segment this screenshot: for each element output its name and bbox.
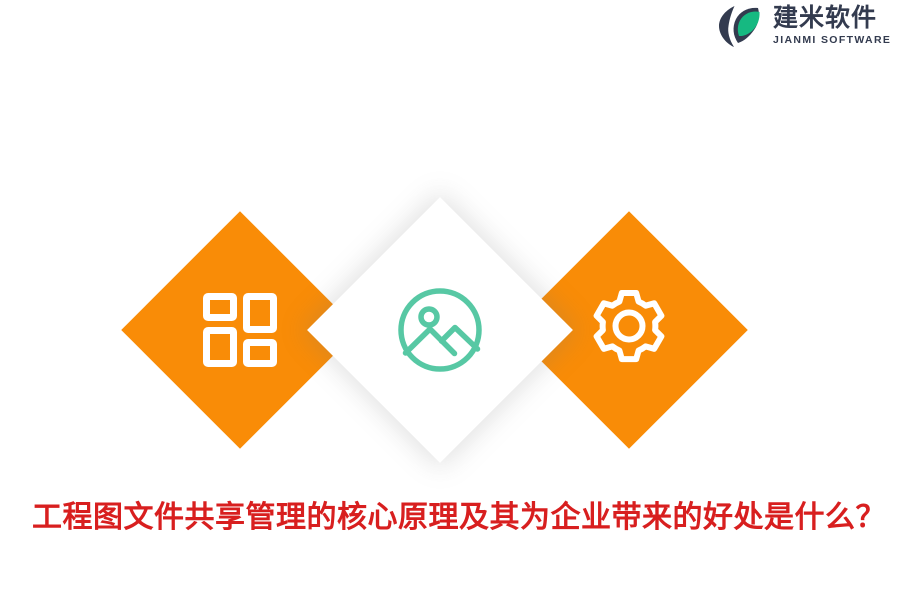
brand-name-cn: 建米软件	[773, 6, 891, 31]
grid-dashboard-icon	[156, 246, 324, 414]
brand-text-block: 建米软件 JIANMI SOFTWARE	[773, 6, 891, 46]
diamond-center	[307, 197, 573, 463]
image-photo-icon	[346, 236, 534, 424]
hero-diamond-cluster	[0, 190, 900, 470]
jianmi-leaf-swoosh-logo-icon	[718, 3, 766, 49]
brand-logo: 建米软件 JIANMI SOFTWARE	[718, 0, 900, 52]
page-title: 工程图文件共享管理的核心原理及其为企业带来的好处是什么？	[32, 492, 886, 536]
brand-name-en: JIANMI SOFTWARE	[773, 35, 891, 46]
